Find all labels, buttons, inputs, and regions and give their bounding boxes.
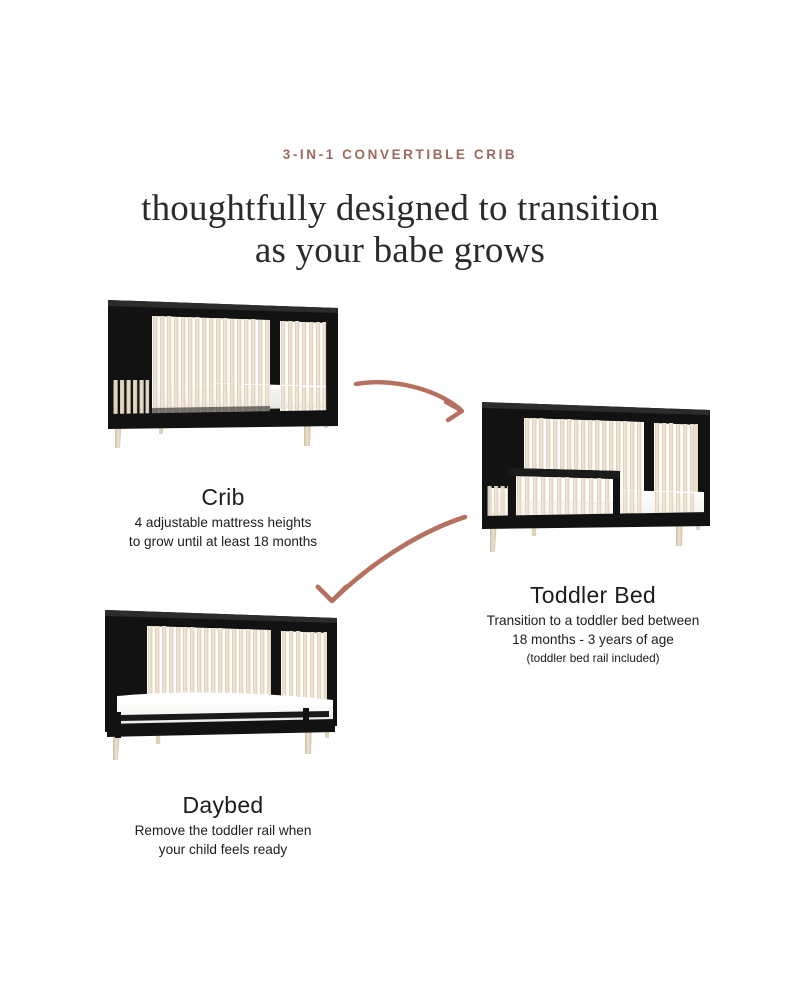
crib-illustration bbox=[98, 296, 348, 466]
stage-note-toddler-bed: (toddler bed rail included) bbox=[443, 650, 743, 667]
curved-arrow-left-down-icon bbox=[310, 505, 470, 615]
stage-desc-daybed: Remove the toddler rail when your child … bbox=[78, 822, 368, 859]
caption-toddler-bed: Toddler Bed Transition to a toddler bed … bbox=[443, 580, 743, 667]
caption-daybed: Daybed Remove the toddler rail when your… bbox=[78, 790, 368, 859]
arrow-toddler-to-daybed bbox=[310, 505, 470, 615]
stage-desc-toddler-bed: Transition to a toddler bed between 18 m… bbox=[443, 612, 743, 649]
headline-line-2: as your babe grows bbox=[0, 230, 800, 272]
product-toddler-bed bbox=[468, 396, 718, 566]
stage-title-daybed: Daybed bbox=[78, 790, 368, 820]
page-title: thoughtfully designed to transition as y… bbox=[0, 188, 800, 272]
stage-desc-toddler-bed-line-1: Transition to a toddler bed between bbox=[443, 612, 743, 631]
headline-line-1: thoughtfully designed to transition bbox=[141, 188, 659, 229]
product-crib bbox=[98, 296, 348, 466]
eyebrow-label: 3-IN-1 CONVERTIBLE CRIB bbox=[0, 147, 800, 162]
toddler-bed-illustration bbox=[468, 396, 718, 566]
daybed-illustration bbox=[93, 600, 348, 775]
stage-desc-toddler-bed-line-2: 18 months - 3 years of age bbox=[443, 631, 743, 650]
product-daybed bbox=[93, 600, 348, 775]
stage-desc-daybed-line-2: your child feels ready bbox=[78, 841, 368, 860]
stage-title-toddler-bed: Toddler Bed bbox=[443, 580, 743, 610]
stage-desc-daybed-line-1: Remove the toddler rail when bbox=[78, 822, 368, 841]
